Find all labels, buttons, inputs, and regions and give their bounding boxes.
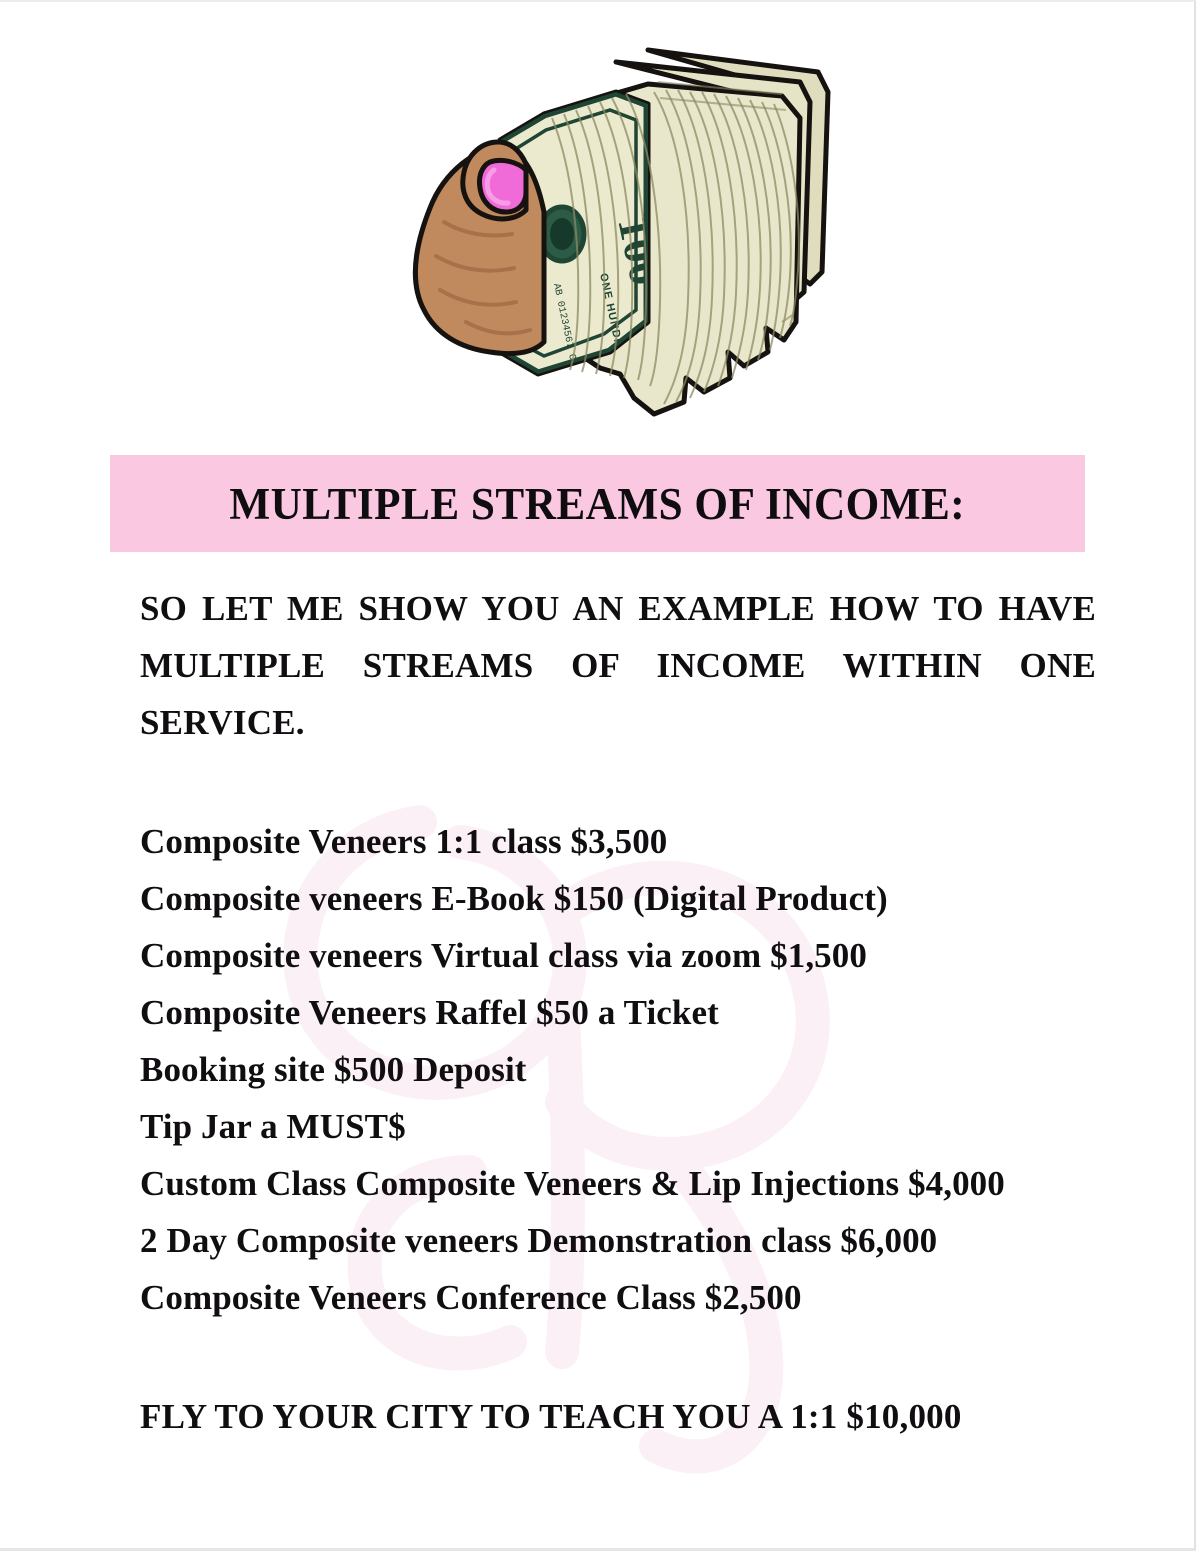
page-title: MULTIPLE STREAMS OF INCOME:	[230, 478, 966, 530]
list-item: Composite Veneers Raffel $50 a Ticket	[140, 984, 1096, 1041]
title-banner: MULTIPLE STREAMS OF INCOME:	[110, 455, 1085, 552]
spacer	[140, 751, 1096, 813]
intro-paragraph: SO LET ME SHOW YOU AN EXAMPLE HOW TO HAV…	[140, 580, 1096, 751]
list-item: Composite Veneers Conference Class $2,50…	[140, 1269, 1096, 1326]
offerings-list: Composite Veneers 1:1 class $3,500 Compo…	[140, 813, 1096, 1326]
list-item: Booking site $500 Deposit	[140, 1041, 1096, 1098]
list-item: Composite veneers Virtual class via zoom…	[140, 927, 1096, 984]
content-body: SO LET ME SHOW YOU AN EXAMPLE HOW TO HAV…	[140, 580, 1096, 1445]
closing-line: FLY TO YOUR CITY TO TEACH YOU A 1:1 $10,…	[140, 1388, 1096, 1445]
list-item: Tip Jar a MUST$	[140, 1098, 1096, 1155]
hand-holding-cash-illustration: 100 ONE HUNDRED DOLLARS AB 01234567 C	[0, 22, 1196, 442]
list-item: Composite Veneers 1:1 class $3,500	[140, 813, 1096, 870]
list-item: Custom Class Composite Veneers & Lip Inj…	[140, 1155, 1096, 1212]
list-item: 2 Day Composite veneers Demonstration cl…	[140, 1212, 1096, 1269]
document-page: 100 ONE HUNDRED DOLLARS AB 01234567 C	[0, 0, 1196, 1551]
list-item: Composite veneers E-Book $150 (Digital P…	[140, 870, 1096, 927]
spacer	[140, 1326, 1096, 1388]
